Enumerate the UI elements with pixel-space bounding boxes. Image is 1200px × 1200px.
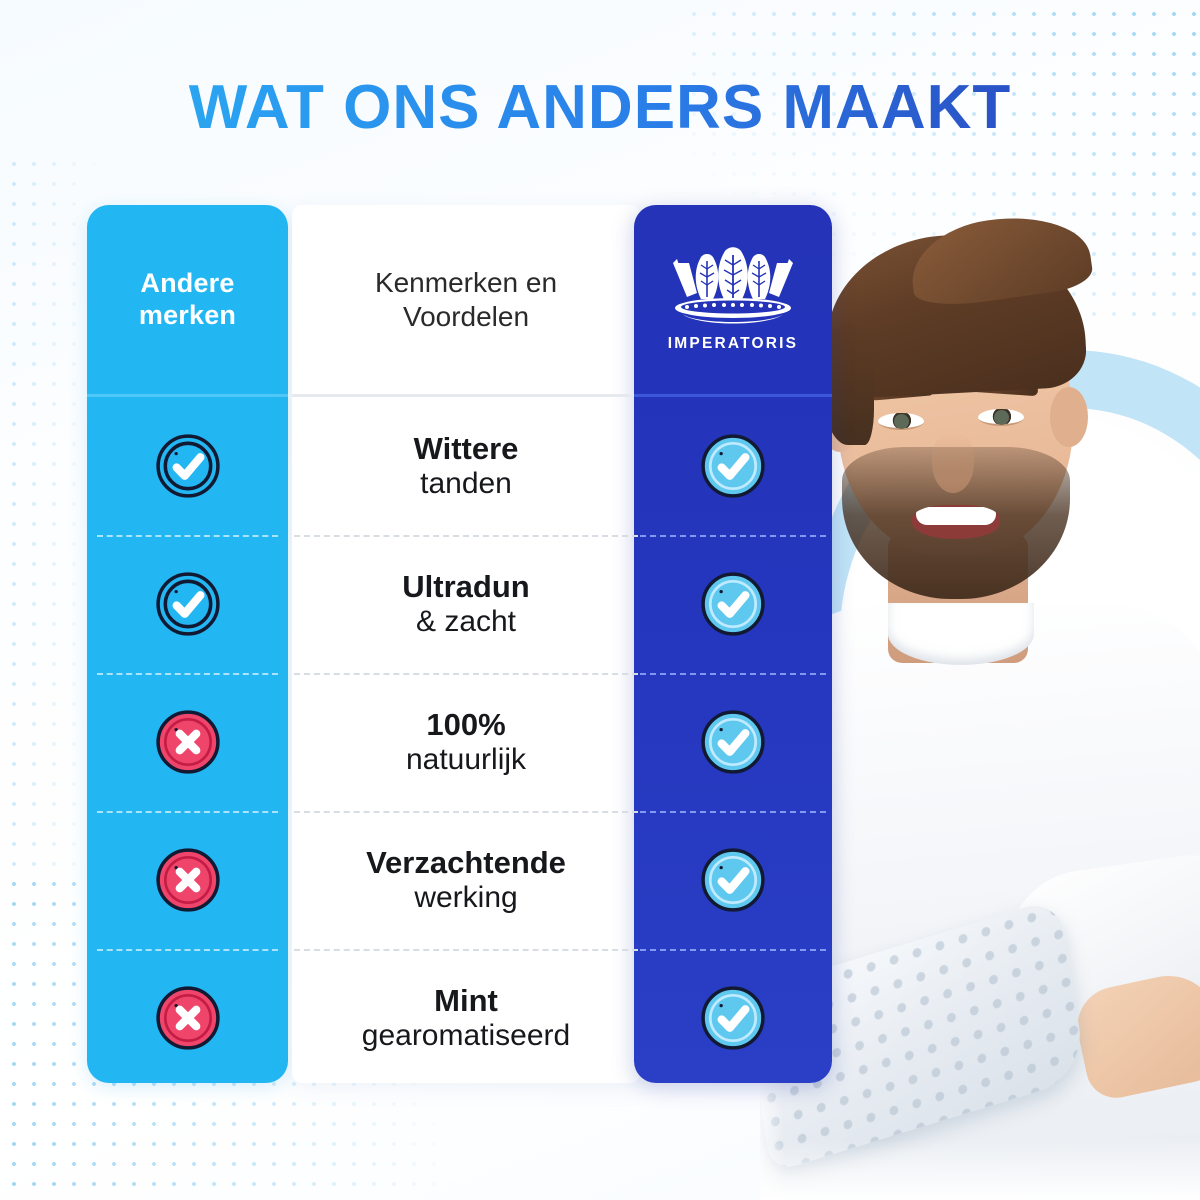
feature-line2: werking	[366, 881, 566, 914]
feature-line1: 100%	[406, 708, 526, 742]
header-cell-features: Kenmerken en Voordelen	[292, 205, 640, 394]
table-header-row: Andere merken Kenmerken en Voordelen	[87, 205, 832, 394]
other-brands-heading: Andere merken	[139, 268, 236, 332]
feature-cell: Verzachtende werking	[292, 811, 640, 949]
table-row: Ultradun & zacht	[87, 535, 832, 673]
table-row: Wittere tanden	[87, 397, 832, 535]
brand-mark-cell	[634, 397, 832, 535]
brand-mark-cell	[634, 535, 832, 673]
table-grid: Andere merken Kenmerken en Voordelen	[87, 205, 832, 1083]
check-icon	[700, 847, 766, 913]
feature-line2: & zacht	[402, 605, 529, 638]
check-icon	[700, 985, 766, 1051]
features-line2: Voordelen	[403, 301, 529, 332]
table-row: 100% natuurlijk	[87, 673, 832, 811]
crown-icon	[667, 247, 799, 333]
pupil-right	[994, 410, 1009, 425]
comparison-table: Andere merken Kenmerken en Voordelen	[87, 205, 832, 1083]
feature-text: Wittere tanden	[414, 432, 519, 500]
feature-line2: tanden	[414, 467, 519, 500]
other-brands-line2: merken	[139, 300, 236, 330]
page-title: WAT ONS ANDERS MAAKT	[0, 72, 1200, 143]
features-heading: Kenmerken en Voordelen	[375, 266, 557, 333]
shirt-collar	[888, 603, 1034, 665]
header-cell-brand: IMPERATORIS	[634, 205, 832, 394]
pupil-left	[894, 414, 909, 429]
other-brands-mark-cell	[87, 397, 288, 535]
other-brands-mark-cell	[87, 535, 288, 673]
photo-fade-bottom	[760, 1140, 1200, 1200]
feature-line2: gearomatiseerd	[362, 1019, 570, 1052]
other-brands-mark-cell	[87, 673, 288, 811]
nose	[932, 433, 974, 493]
cross-icon	[155, 985, 221, 1051]
other-brands-mark-cell	[87, 949, 288, 1087]
feature-text: Mint gearomatiseerd	[362, 984, 570, 1052]
feature-cell: Ultradun & zacht	[292, 535, 640, 673]
feature-cell: Wittere tanden	[292, 397, 640, 535]
feature-text: 100% natuurlijk	[406, 708, 526, 776]
table-row: Mint gearomatiseerd	[87, 949, 832, 1087]
feature-text: Verzachtende werking	[366, 846, 566, 914]
feature-line1: Mint	[362, 984, 570, 1018]
check-icon	[700, 433, 766, 499]
smile	[912, 505, 1000, 539]
cross-icon	[155, 847, 221, 913]
feature-text: Ultradun & zacht	[402, 570, 529, 638]
ear-right	[1050, 387, 1088, 447]
check-icon	[700, 571, 766, 637]
features-line1: Kenmerken en	[375, 267, 557, 298]
brand-mark-cell	[634, 949, 832, 1087]
check-icon	[700, 709, 766, 775]
other-brands-line1: Andere	[140, 268, 234, 298]
check-icon	[155, 571, 221, 637]
brand-mark-cell	[634, 673, 832, 811]
teeth	[916, 507, 996, 525]
feature-line1: Verzachtende	[366, 846, 566, 880]
check-icon	[155, 433, 221, 499]
feature-cell: 100% natuurlijk	[292, 673, 640, 811]
feature-cell: Mint gearomatiseerd	[292, 949, 640, 1087]
feature-line1: Ultradun	[402, 570, 529, 604]
other-brands-mark-cell	[87, 811, 288, 949]
cross-icon	[155, 709, 221, 775]
table-row: Verzachtende werking	[87, 811, 832, 949]
feature-line1: Wittere	[414, 432, 519, 466]
brand-logo: IMPERATORIS	[667, 247, 799, 353]
header-cell-other-brands: Andere merken	[87, 205, 288, 394]
feature-line2: natuurlijk	[406, 743, 526, 776]
brand-mark-cell	[634, 811, 832, 949]
brand-name: IMPERATORIS	[667, 335, 799, 353]
